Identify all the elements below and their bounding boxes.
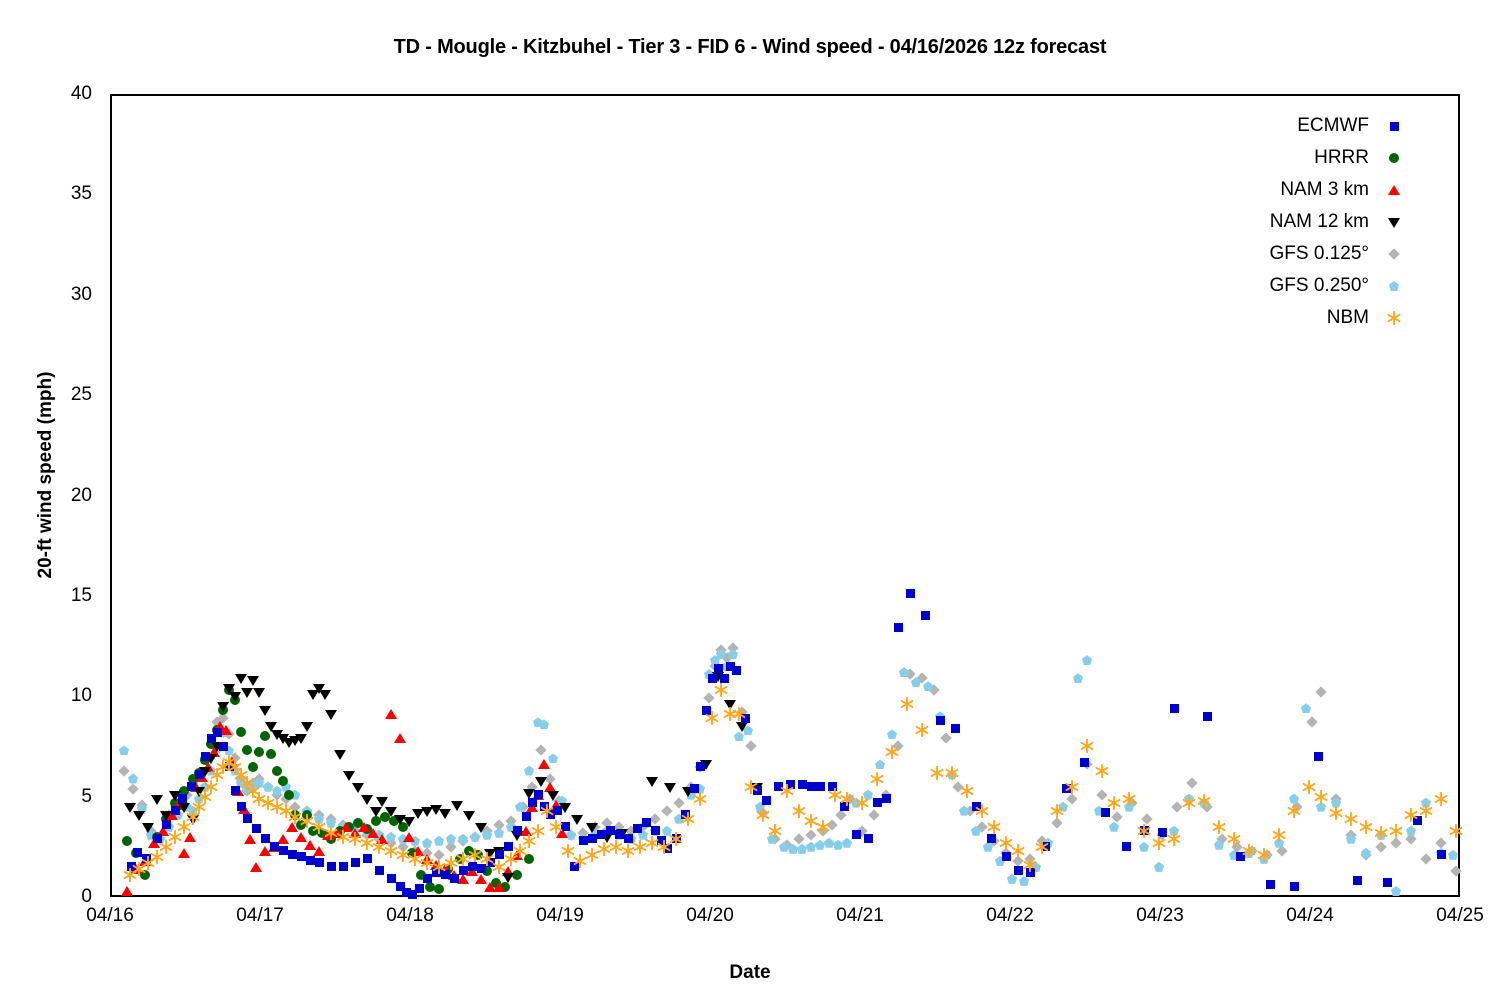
- data-point: [1095, 764, 1109, 778]
- data-point: [228, 760, 242, 774]
- legend-marker-pentagon-icon: [1383, 275, 1405, 297]
- data-point: [1137, 824, 1151, 838]
- data-point: [192, 800, 206, 814]
- data-point: [444, 856, 458, 870]
- y-axis-title: 20-ft wind speed (mph): [35, 75, 57, 875]
- data-point: [420, 856, 434, 870]
- data-point: [1011, 844, 1025, 858]
- data-point: [744, 780, 758, 794]
- data-point: [840, 792, 854, 806]
- x-tick-label: 04/19: [536, 905, 584, 927]
- legend-item-nbm[interactable]: NBM: [1150, 302, 1405, 334]
- data-point: [1359, 820, 1373, 834]
- data-point: [261, 796, 275, 810]
- legend-marker-glyph: [1389, 153, 1399, 163]
- x-tick-label: 04/18: [386, 905, 434, 927]
- data-point: [855, 796, 869, 810]
- data-point: [1050, 804, 1064, 818]
- data-point: [1302, 780, 1316, 794]
- data-point: [1035, 840, 1049, 854]
- legend: ECMWFHRRRNAM 3 kmNAM 12 kmGFS 0.125°GFS …: [1150, 110, 1405, 334]
- legend-item-nam-3-km[interactable]: NAM 3 km: [1150, 174, 1405, 206]
- legend-marker-glyph: [1389, 281, 1399, 291]
- y-tick-label: 15: [71, 585, 92, 607]
- legend-label: ECMWF: [1297, 115, 1369, 137]
- data-point: [150, 850, 164, 864]
- data-point: [1242, 844, 1256, 858]
- data-point: [222, 755, 236, 769]
- legend-marker-glyph: [1388, 218, 1400, 228]
- data-point: [372, 840, 386, 854]
- data-point: [522, 834, 536, 848]
- data-point: [252, 792, 266, 806]
- x-tick-label: 04/20: [686, 905, 734, 927]
- data-point: [768, 824, 782, 838]
- data-point: [492, 860, 506, 874]
- data-point: [915, 723, 929, 737]
- data-point: [159, 840, 173, 854]
- data-point: [621, 844, 635, 858]
- data-point: [885, 745, 899, 759]
- data-point: [816, 820, 830, 834]
- legend-item-gfs-0-250[interactable]: GFS 0.250°: [1150, 270, 1405, 302]
- data-point: [1389, 824, 1403, 838]
- legend-label: NAM 3 km: [1280, 179, 1369, 201]
- data-point: [1227, 832, 1241, 846]
- data-point: [714, 683, 728, 697]
- data-point: [870, 772, 884, 786]
- x-tick-label: 04/21: [836, 905, 884, 927]
- data-point: [504, 852, 518, 866]
- data-point: [1374, 826, 1388, 840]
- legend-marker-glyph: [1388, 248, 1399, 259]
- data-point: [210, 768, 224, 782]
- data-point: [198, 790, 212, 804]
- data-point: [540, 804, 554, 818]
- x-tick-label: 04/24: [1286, 905, 1334, 927]
- data-point: [456, 852, 470, 866]
- data-point: [987, 820, 1001, 834]
- data-point: [531, 824, 545, 838]
- y-tick-label: 40: [71, 83, 92, 105]
- data-point: [132, 862, 146, 876]
- legend-marker-square-icon: [1383, 115, 1405, 137]
- data-point: [549, 820, 563, 834]
- data-point: [300, 814, 314, 828]
- legend-item-nam-12-km[interactable]: NAM 12 km: [1150, 206, 1405, 238]
- legend-item-hrrr[interactable]: HRRR: [1150, 142, 1405, 174]
- data-point: [123, 868, 137, 882]
- x-tick-label: 04/17: [236, 905, 284, 927]
- data-point: [396, 848, 410, 862]
- data-point: [1182, 796, 1196, 810]
- data-point: [669, 832, 683, 846]
- data-point: [1197, 794, 1211, 808]
- data-point: [1080, 739, 1094, 753]
- data-point: [1287, 804, 1301, 818]
- legend-label: GFS 0.250°: [1270, 275, 1369, 297]
- data-point: [408, 852, 422, 866]
- x-tick-label: 04/23: [1136, 905, 1184, 927]
- data-point: [186, 810, 200, 824]
- legend-label: NAM 12 km: [1270, 211, 1369, 233]
- data-point: [975, 804, 989, 818]
- data-point: [1272, 828, 1286, 842]
- legend-marker-asterisk-icon: [1383, 307, 1405, 329]
- data-point: [177, 820, 191, 834]
- data-point: [1344, 812, 1358, 826]
- legend-label: GFS 0.125°: [1270, 243, 1369, 265]
- data-point: [585, 848, 599, 862]
- y-tick-label: 5: [81, 786, 92, 808]
- y-tick-label: 20: [71, 485, 92, 507]
- data-point: [288, 810, 302, 824]
- data-point: [1212, 820, 1226, 834]
- data-point: [1257, 848, 1271, 862]
- data-point: [240, 776, 254, 790]
- data-point: [633, 840, 647, 854]
- data-point: [279, 804, 293, 818]
- data-point: [480, 852, 494, 866]
- data-point: [1449, 824, 1463, 838]
- data-point: [270, 800, 284, 814]
- data-point: [732, 707, 746, 721]
- legend-item-gfs-0-125[interactable]: GFS 0.125°: [1150, 238, 1405, 270]
- y-tick-label: 35: [71, 183, 92, 205]
- y-tick-label: 10: [71, 685, 92, 707]
- data-point: [216, 760, 230, 774]
- x-axis-title: Date: [0, 962, 1500, 984]
- data-point: [1152, 836, 1166, 850]
- data-point: [1023, 858, 1037, 872]
- data-point: [723, 707, 737, 721]
- legend-marker-circle-icon: [1383, 147, 1405, 169]
- data-point: [141, 856, 155, 870]
- data-point: [1107, 796, 1121, 810]
- data-point: [804, 814, 818, 828]
- legend-marker-glyph: [1390, 122, 1399, 131]
- legend-item-ecmwf[interactable]: ECMWF: [1150, 110, 1405, 142]
- data-point: [609, 840, 623, 854]
- data-point: [681, 812, 695, 826]
- data-point: [513, 844, 527, 858]
- data-point: [756, 808, 770, 822]
- data-point: [930, 766, 944, 780]
- data-point: [384, 844, 398, 858]
- legend-marker-glyph: [1387, 311, 1401, 325]
- data-point: [204, 780, 218, 794]
- data-point: [792, 804, 806, 818]
- legend-label: HRRR: [1314, 147, 1369, 169]
- data-point: [573, 854, 587, 868]
- y-tick-label: 25: [71, 384, 92, 406]
- data-point: [1314, 790, 1328, 804]
- data-point: [1329, 806, 1343, 820]
- data-point: [960, 784, 974, 798]
- data-point: [999, 836, 1013, 850]
- legend-marker-triangle-up-icon: [1383, 179, 1405, 201]
- data-point: [561, 844, 575, 858]
- x-tick-label: 04/16: [86, 905, 134, 927]
- y-tick-label: 30: [71, 284, 92, 306]
- data-point: [1404, 808, 1418, 822]
- data-point: [900, 697, 914, 711]
- data-point: [324, 826, 338, 840]
- legend-marker-diamond-icon: [1383, 243, 1405, 265]
- data-point: [246, 784, 260, 798]
- data-point: [1167, 832, 1181, 846]
- data-point: [1419, 804, 1433, 818]
- data-point: [360, 836, 374, 850]
- data-point: [312, 820, 326, 834]
- legend-marker-glyph: [1388, 185, 1400, 195]
- legend-label: NBM: [1327, 307, 1369, 329]
- data-point: [945, 766, 959, 780]
- data-point: [432, 860, 446, 874]
- data-point: [1122, 792, 1136, 806]
- data-point: [780, 784, 794, 798]
- data-point: [828, 788, 842, 802]
- legend-marker-triangle-down-icon: [1383, 211, 1405, 233]
- data-point: [1065, 780, 1079, 794]
- data-point: [645, 836, 659, 850]
- chart-title: TD - Mougle - Kitzbuhel - Tier 3 - FID 6…: [0, 36, 1500, 59]
- data-point: [348, 832, 362, 846]
- data-point: [1434, 792, 1448, 806]
- x-tick-label: 04/25: [1436, 905, 1484, 927]
- data-point: [234, 768, 248, 782]
- data-point: [657, 840, 671, 854]
- data-point: [468, 848, 482, 862]
- data-point: [597, 842, 611, 856]
- data-point: [705, 711, 719, 725]
- data-point: [693, 792, 707, 806]
- data-point: [168, 830, 182, 844]
- data-point: [336, 830, 350, 844]
- x-tick-label: 04/22: [986, 905, 1034, 927]
